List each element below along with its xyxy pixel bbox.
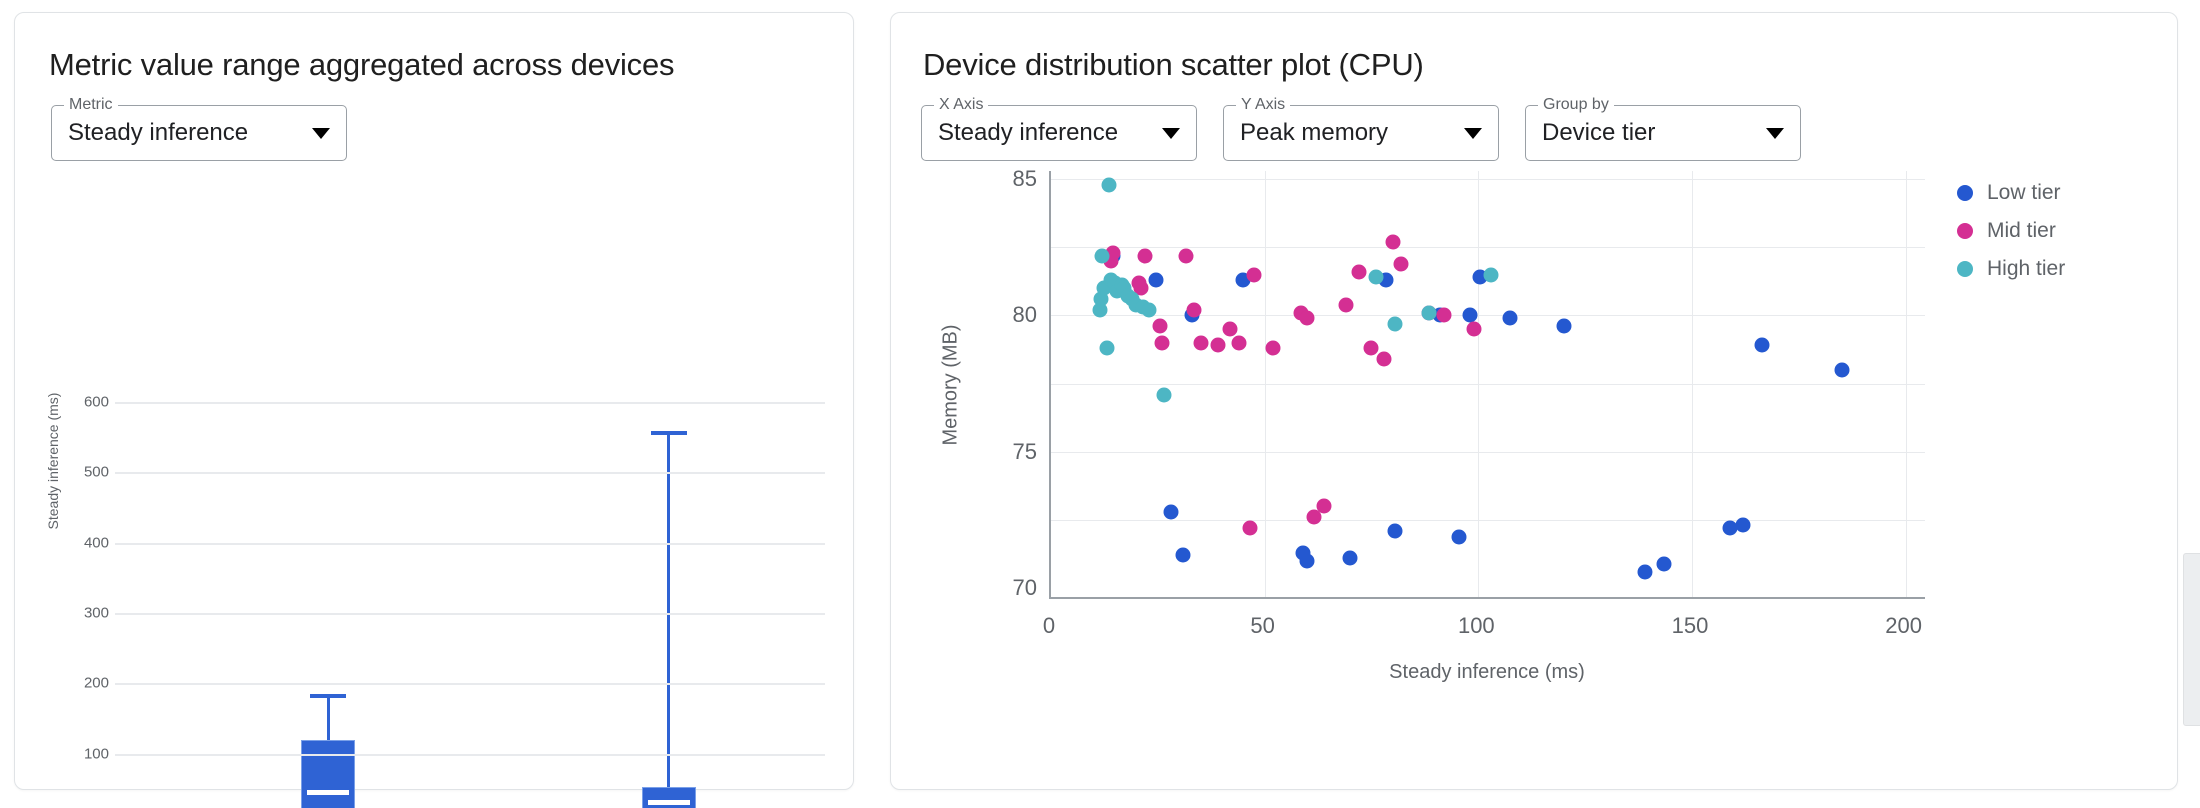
scatter-dot[interactable] (1232, 335, 1247, 350)
boxplot-median-line (648, 800, 690, 805)
scatter-y-tick: 75 (981, 439, 1037, 465)
scatter-y-tick: 85 (981, 166, 1037, 192)
group-by-select-legend: Group by (1538, 97, 1614, 113)
scatter-x-tick: 100 (1458, 613, 1495, 639)
scatter-controls: X Axis Steady inference Y Axis Peak memo… (891, 83, 2177, 161)
scatter-dot[interactable] (1210, 338, 1225, 353)
metric-select-value: Steady inference (68, 119, 296, 147)
boxplot-whisker-line (667, 432, 670, 808)
scatter-x-axis-label: Steady inference (ms) (1389, 661, 1585, 684)
scatter-y-tick: 80 (981, 302, 1037, 328)
x-axis-select[interactable]: X Axis Steady inference (921, 105, 1197, 161)
scatter-dot[interactable] (1387, 316, 1402, 331)
group-by-select-value: Device tier (1542, 119, 1750, 147)
scatter-dot[interactable] (1099, 341, 1114, 356)
scatter-dot[interactable] (1266, 341, 1281, 356)
scatter-dot[interactable] (1755, 338, 1770, 353)
scatter-legend: Low tierMid tierHigh tier (1957, 181, 2065, 281)
metric-select[interactable]: Metric Steady inference (51, 105, 347, 161)
scatter-dot[interactable] (1148, 273, 1163, 288)
scatter-dot[interactable] (1176, 548, 1191, 563)
legend-label: Low tier (1987, 181, 2061, 205)
boxplot-y-tick: 400 (69, 534, 109, 551)
scatter-dot[interactable] (1452, 530, 1467, 545)
scatter-dot[interactable] (1157, 387, 1172, 402)
boxplot-y-tick: 600 (69, 394, 109, 411)
boxplot-plot-area (115, 161, 825, 721)
boxplot-y-tick: 500 (69, 464, 109, 481)
scatter-dot[interactable] (1351, 264, 1366, 279)
scatter-chart: Memory (MB) Steady inference (ms) 050100… (891, 161, 2179, 721)
y-axis-select[interactable]: Y Axis Peak memory (1223, 105, 1499, 161)
metric-select-legend: Metric (64, 97, 118, 113)
scatter-hgridline-minor (1051, 384, 1925, 385)
scatter-x-tick: 0 (1043, 613, 1055, 639)
scatter-x-tick: 200 (1885, 613, 1922, 639)
x-axis-select-value: Steady inference (938, 119, 1146, 147)
scatter-dot[interactable] (1422, 305, 1437, 320)
boxplot-gridline (115, 543, 825, 545)
dashboard-root: Metric value range aggregated across dev… (0, 0, 2200, 808)
scatter-dot[interactable] (1368, 270, 1383, 285)
boxplot-median-line (307, 790, 349, 795)
boxplot-gridline (115, 754, 825, 756)
scatter-hgridline (1051, 179, 1925, 180)
scatter-x-tick: 50 (1250, 613, 1274, 639)
boxplot-y-ticks: 0100200300400500600 (57, 161, 109, 721)
scatter-title: Device distribution scatter plot (CPU) (891, 13, 2177, 83)
boxplot-box-rect (301, 740, 355, 808)
scatter-dot[interactable] (1387, 523, 1402, 538)
boxplot-box[interactable] (115, 161, 825, 721)
scatter-dot[interactable] (1317, 499, 1332, 514)
y-axis-select-value: Peak memory (1240, 119, 1448, 147)
chevron-down-icon (1766, 128, 1784, 139)
scatter-dot[interactable] (1178, 248, 1193, 263)
scatter-dot[interactable] (1142, 303, 1157, 318)
boxplot-whisker-cap-high (651, 431, 687, 435)
scatter-dot[interactable] (1637, 564, 1652, 579)
scatter-hgridline (1051, 452, 1925, 453)
group-by-select[interactable]: Group by Device tier (1525, 105, 1801, 161)
scatter-dot[interactable] (1364, 341, 1379, 356)
legend-swatch-icon (1957, 223, 1973, 239)
scatter-dot[interactable] (1095, 248, 1110, 263)
legend-item[interactable]: High tier (1957, 257, 2065, 281)
y-axis-select-legend: Y Axis (1236, 97, 1290, 113)
scatter-dot[interactable] (1138, 248, 1153, 263)
boxplot-gridline (115, 683, 825, 685)
boxplot-gridline (115, 613, 825, 615)
scatter-dot[interactable] (1101, 177, 1116, 192)
legend-swatch-icon (1957, 261, 1973, 277)
scatter-dot[interactable] (1467, 322, 1482, 337)
scatter-dot[interactable] (1503, 311, 1518, 326)
scatter-y-tick: 70 (981, 575, 1037, 601)
scatter-dot[interactable] (1300, 553, 1315, 568)
scatter-y-axis-label: Memory (MB) (940, 324, 963, 445)
scatter-dot[interactable] (1736, 518, 1751, 533)
metric-range-card: Metric value range aggregated across dev… (14, 12, 854, 790)
chevron-down-icon (1464, 128, 1482, 139)
boxplot-y-tick: 300 (69, 605, 109, 622)
scatter-dot[interactable] (1155, 335, 1170, 350)
scatter-dot[interactable] (1246, 267, 1261, 282)
scatter-dot[interactable] (1834, 363, 1849, 378)
scatter-dot[interactable] (1343, 551, 1358, 566)
legend-label: High tier (1987, 257, 2065, 281)
scatter-dot[interactable] (1338, 297, 1353, 312)
scatter-dot[interactable] (1394, 256, 1409, 271)
scatter-dot[interactable] (1152, 319, 1167, 334)
legend-swatch-icon (1957, 185, 1973, 201)
scatter-dot[interactable] (1556, 319, 1571, 334)
left-controls: Metric Steady inference (15, 83, 853, 161)
scatter-card: Device distribution scatter plot (CPU) X… (890, 12, 2178, 790)
scatter-dot[interactable] (1163, 504, 1178, 519)
legend-item[interactable]: Low tier (1957, 181, 2065, 205)
boxplot-gridline (115, 472, 825, 474)
boxplot-chart: Steady inference (ms) 010020030040050060… (15, 161, 853, 721)
x-axis-select-legend: X Axis (934, 97, 988, 113)
page-title: Metric value range aggregated across dev… (15, 13, 853, 83)
scatter-hgridline (1051, 315, 1925, 316)
legend-label: Mid tier (1987, 219, 2056, 243)
scatter-dot[interactable] (1385, 234, 1400, 249)
scatter-dot[interactable] (1223, 322, 1238, 337)
scatter-hgridline-minor (1051, 520, 1925, 521)
chevron-down-icon (1162, 128, 1180, 139)
scatter-x-tick: 150 (1672, 613, 1709, 639)
scatter-dot[interactable] (1193, 335, 1208, 350)
scatter-dot[interactable] (1657, 556, 1672, 571)
boxplot-gridline (115, 402, 825, 404)
legend-item[interactable]: Mid tier (1957, 219, 2065, 243)
boxplot-y-tick: 200 (69, 675, 109, 692)
boxplot-y-tick: 100 (69, 745, 109, 762)
scatter-dot[interactable] (1437, 308, 1452, 323)
scatter-plot-area (1049, 171, 1925, 599)
scatter-dot[interactable] (1484, 267, 1499, 282)
scatter-dot[interactable] (1187, 303, 1202, 318)
scatter-dot[interactable] (1242, 521, 1257, 536)
scatter-dot[interactable] (1377, 352, 1392, 367)
scatter-dot[interactable] (1300, 311, 1315, 326)
scatter-tooltip: Samsung Galaxy A51 - Steady inference (m… (2183, 553, 2200, 726)
chevron-down-icon (312, 128, 330, 139)
